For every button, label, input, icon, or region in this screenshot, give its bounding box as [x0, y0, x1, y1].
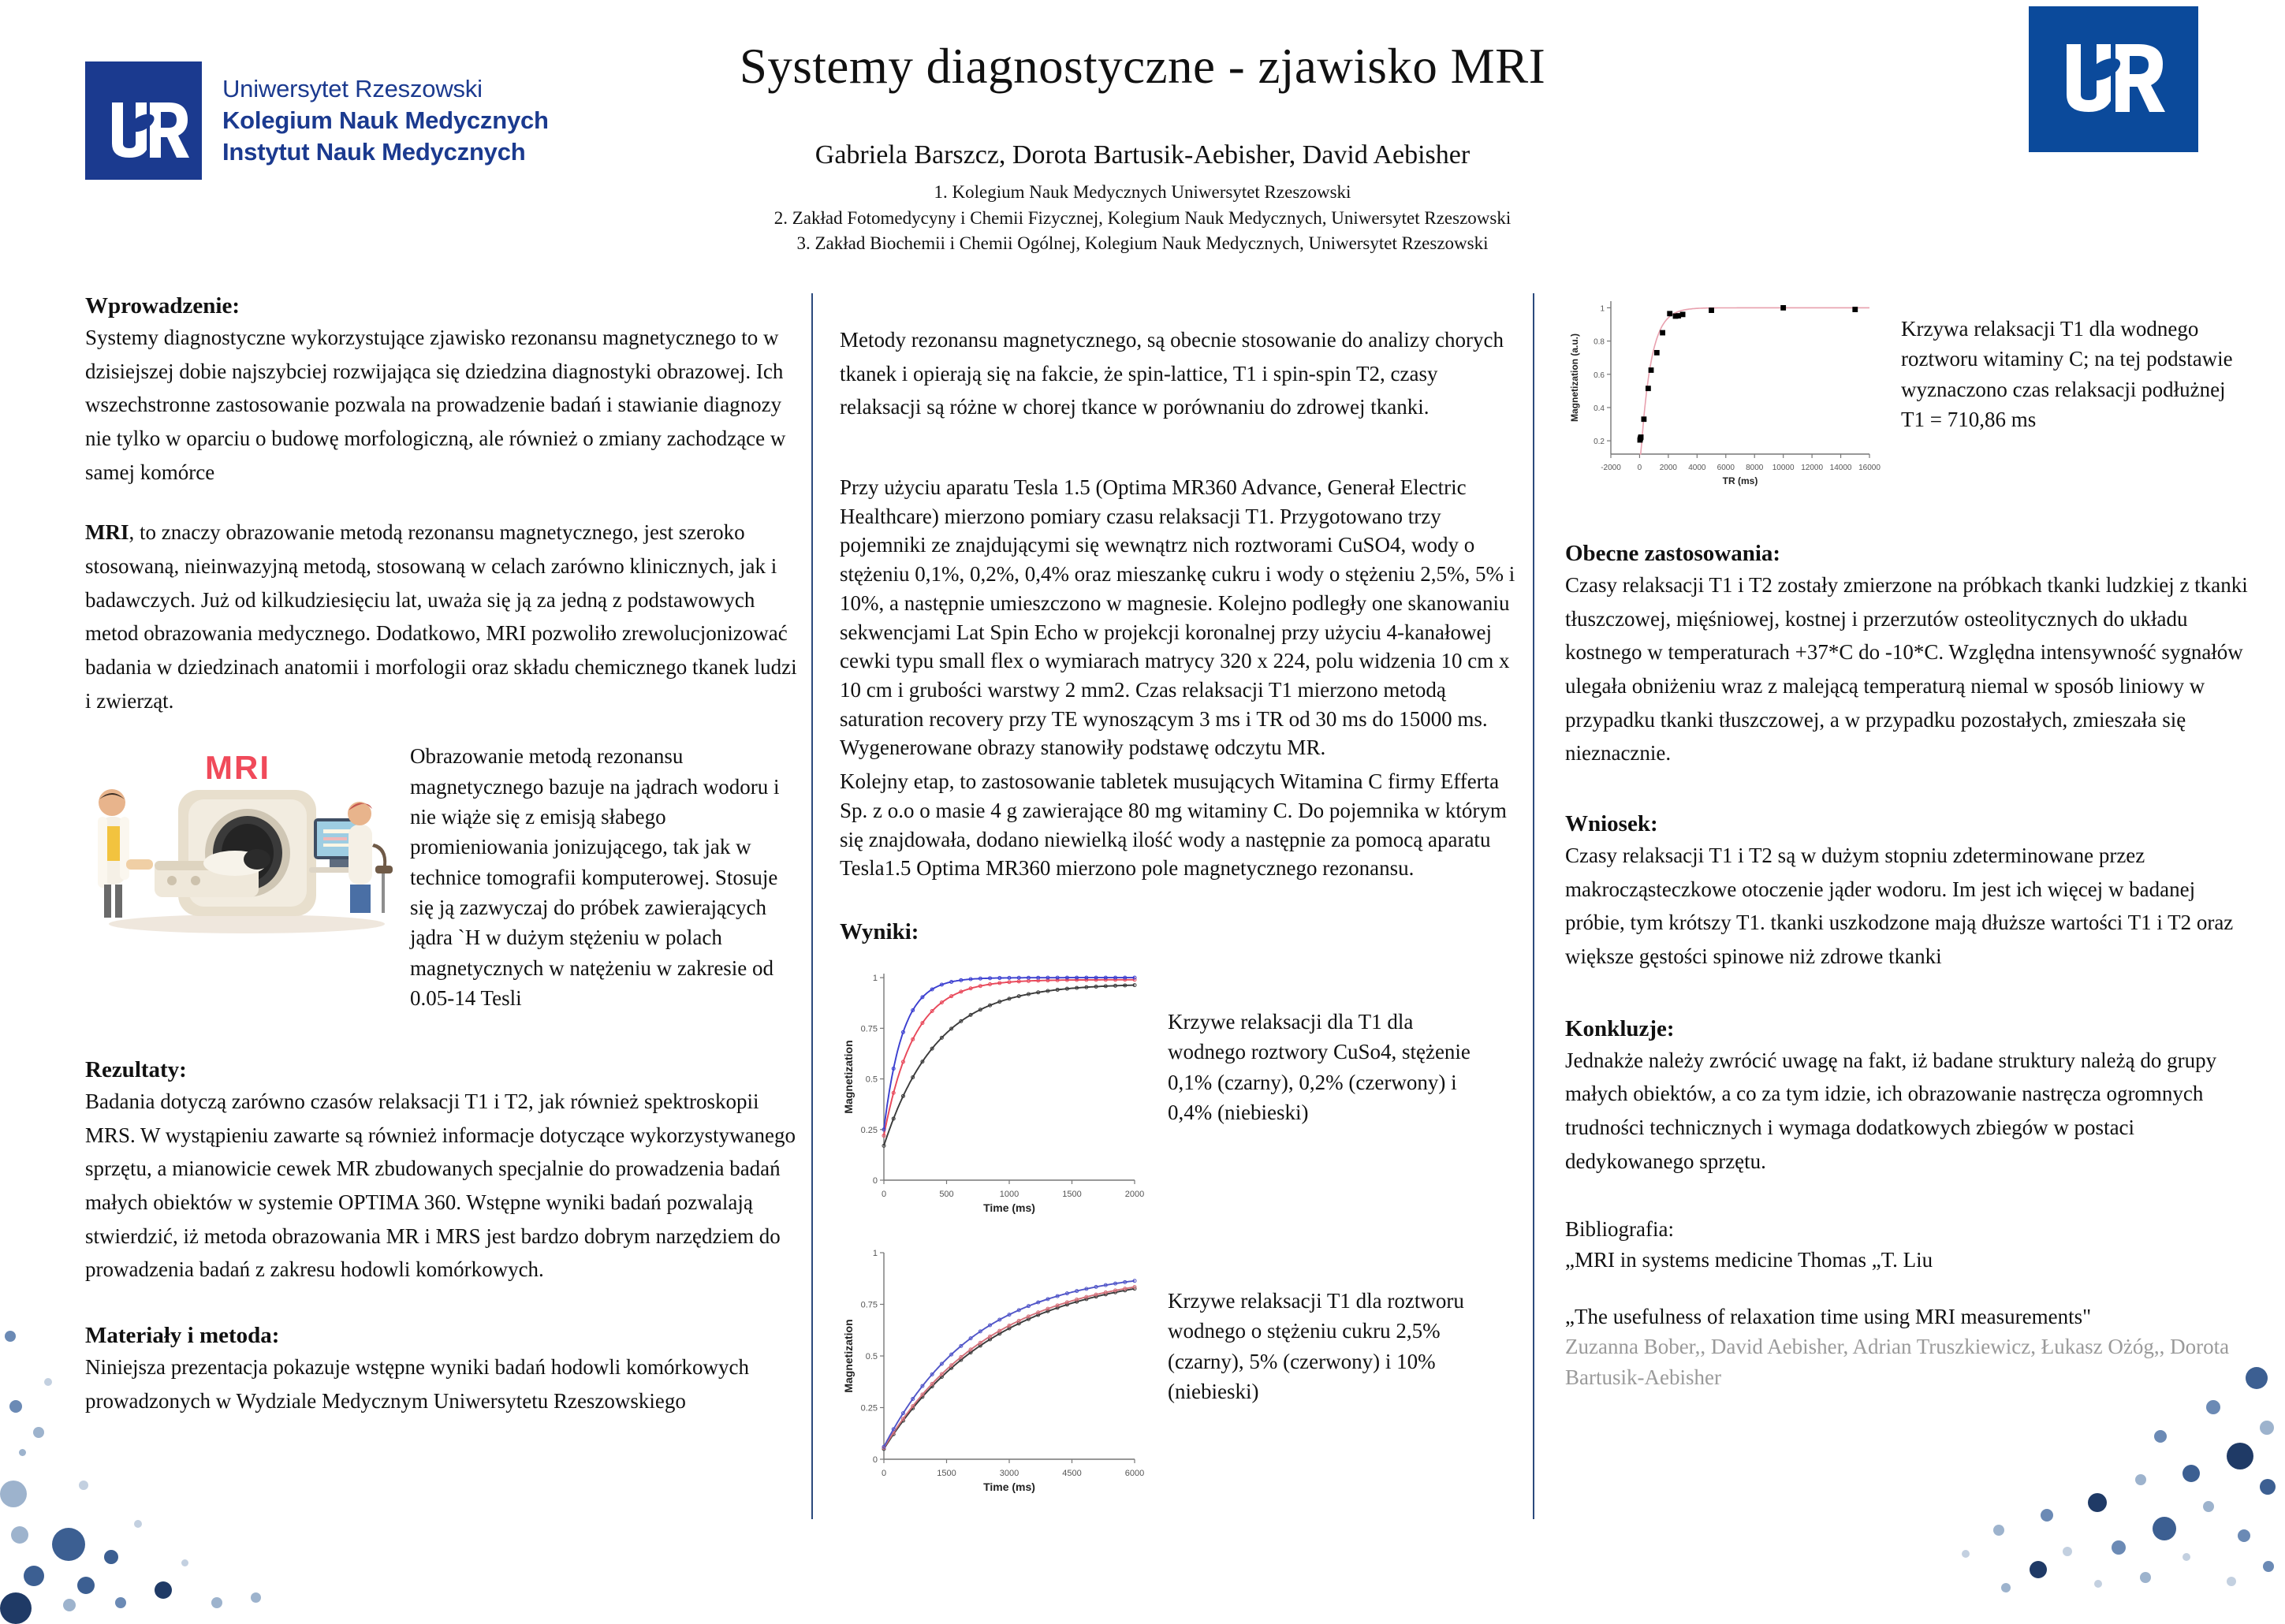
svg-text:0.6: 0.6 [1594, 371, 1605, 380]
decorative-circle [2135, 1474, 2146, 1485]
affiliation-1: 1. Kolegium Nauk Medycznych Uniwersytet … [0, 180, 2285, 206]
mid-paragraph-1: Metody rezonansu magnetycznego, są obecn… [840, 323, 1518, 424]
svg-text:6000: 6000 [1125, 1469, 1144, 1478]
poster-header: Uniwersytet Rzeszowski Kolegium Nauk Med… [0, 0, 2285, 268]
intro-paragraph: Systemy diagnostyczne wykorzystujące zja… [85, 321, 799, 489]
decorative-circle [2041, 1509, 2053, 1522]
decorative-circle [134, 1520, 142, 1528]
svg-text:16000: 16000 [1858, 464, 1881, 472]
decorative-circle [24, 1566, 44, 1586]
section-heading-wniosek: Wniosek: [1565, 811, 2259, 837]
bibliography-entry-2-title: „The usefulness of relaxation time using… [1565, 1302, 2259, 1332]
decorative-circle [2182, 1465, 2200, 1482]
svg-text:Magnetization (a.u.): Magnetization (a.u.) [1569, 333, 1580, 422]
svg-text:0.25: 0.25 [861, 1126, 878, 1135]
svg-text:-2000: -2000 [1601, 464, 1621, 472]
decorative-circle [2260, 1479, 2276, 1495]
author-list: Gabriela Barszcz, Dorota Bartusik-Aebish… [0, 140, 2285, 170]
svg-text:0: 0 [873, 1176, 878, 1186]
section-wniosek: Wniosek: Czasy relaksacji T1 i T2 są w d… [1565, 811, 2259, 974]
svg-text:0.2: 0.2 [1594, 438, 1605, 446]
svg-text:0.5: 0.5 [866, 1352, 878, 1361]
methods-paragraph: Niniejsza prezentacja pokazuje wstępne w… [85, 1350, 799, 1417]
decorative-circle [2203, 1501, 2214, 1512]
chart-cuso4-relaxation: 00.250.50.7510500100015002000Time (ms)Ma… [840, 963, 1147, 1215]
svg-text:0.5: 0.5 [866, 1075, 878, 1085]
mri-illustration-row: MRI [85, 741, 799, 1013]
affiliation-3: 3. Zakład Biochemii i Chemii Ogólnej, Ko… [0, 231, 2285, 257]
decorative-circle [2227, 1577, 2236, 1586]
svg-text:1: 1 [873, 1249, 878, 1258]
svg-text:Time (ms): Time (ms) [983, 1481, 1035, 1493]
svg-text:0.25: 0.25 [861, 1404, 878, 1414]
decorative-circle [181, 1559, 188, 1566]
svg-text:0.8: 0.8 [1594, 338, 1605, 347]
svg-text:4000: 4000 [1688, 464, 1706, 472]
svg-text:8000: 8000 [1746, 464, 1764, 472]
decorative-circle [2238, 1529, 2250, 1542]
svg-text:4500: 4500 [1062, 1469, 1081, 1478]
section-materialy-metoda: Materiały i metoda: Niniejsza prezentacj… [85, 1323, 799, 1417]
decorative-circle [2001, 1583, 2011, 1592]
affiliation-2: 2. Zakład Fotomedycyny i Chemii Fizyczne… [0, 206, 2285, 232]
decorative-circle [251, 1592, 261, 1603]
figure-3-caption: Krzywa relaksacji T1 dla wodnego roztwor… [1901, 290, 2240, 434]
decorative-circle [63, 1599, 76, 1611]
mid-paragraph-2: Przy użyciu aparatu Tesla 1.5 (Optima MR… [840, 473, 1518, 762]
svg-text:2000: 2000 [1660, 464, 1678, 472]
svg-text:0: 0 [1638, 464, 1642, 472]
affiliations: 1. Kolegium Nauk Medycznych Uniwersytet … [0, 180, 2285, 257]
section-heading-wprowadzenie: Wprowadzenie: [85, 293, 799, 319]
figure-2-row: 00.250.50.75101500300045006000Time (ms)M… [840, 1242, 1518, 1494]
section-heading-rezultaty: Rezultaty: [85, 1057, 799, 1083]
svg-text:2000: 2000 [1125, 1190, 1144, 1199]
applications-paragraph: Czasy relaksacji T1 i T2 zostały zmierzo… [1565, 568, 2259, 770]
section-mri-definition: MRI, to znaczy obrazowanie metodą rezona… [85, 516, 799, 717]
svg-text:6000: 6000 [1717, 464, 1735, 472]
decorative-circle [5, 1331, 16, 1342]
decorative-circle [211, 1597, 222, 1608]
section-wprowadzenie: Wprowadzenie: Systemy diagnostyczne wyko… [85, 293, 799, 489]
decorative-circle [2182, 1553, 2190, 1561]
mri-lead-bold: MRI [85, 520, 129, 544]
svg-text:Magnetization: Magnetization [842, 1040, 855, 1113]
mri-illustration-caption: Obrazowanie metodą rezonansu magnetyczne… [410, 741, 799, 1013]
svg-text:Magnetization: Magnetization [842, 1319, 855, 1392]
section-heading-zastosowania: Obecne zastosowania: [1565, 541, 2259, 567]
decorative-circle [2140, 1572, 2151, 1583]
middle-column: Metody rezonansu magnetycznego, są obecn… [840, 293, 1518, 1494]
conclusion-paragraph: Czasy relaksacji T1 i T2 są w dużym stop… [1565, 839, 2259, 974]
column-divider-left [811, 293, 813, 1519]
figure-3-row: 0.20.40.60.81-20000200040006000800010000… [1565, 290, 2259, 487]
figure-1-caption: Krzywe relaksacji dla T1 dla wodnego roz… [1168, 963, 1483, 1127]
decorative-circle [44, 1378, 52, 1386]
svg-text:0.75: 0.75 [861, 1024, 878, 1034]
decorative-circle [2227, 1443, 2253, 1469]
decorative-circle [1962, 1550, 1970, 1558]
decorative-circle [155, 1581, 172, 1599]
svg-text:14000: 14000 [1830, 464, 1852, 472]
svg-text:0.75: 0.75 [861, 1301, 878, 1310]
mri-paragraph: MRI, to znaczy obrazowanie metodą rezona… [85, 516, 799, 717]
section-obecne-zastosowania: Obecne zastosowania: Czasy relaksacji T1… [1565, 541, 2259, 770]
figure-2-caption: Krzywe relaksacji T1 dla roztworu wodneg… [1168, 1242, 1483, 1406]
decorative-circle [2263, 1561, 2274, 1572]
svg-text:10000: 10000 [1772, 464, 1795, 472]
decorative-circle [19, 1449, 26, 1456]
mri-scanner-illustration: MRI [85, 741, 393, 938]
svg-text:1500: 1500 [1062, 1190, 1081, 1199]
decorative-circle [2112, 1540, 2126, 1555]
svg-text:500: 500 [939, 1190, 953, 1199]
decorative-circle [0, 1481, 27, 1507]
decorative-circle [2153, 1517, 2176, 1540]
decorative-circle [11, 1526, 28, 1544]
decorative-circle [33, 1427, 44, 1438]
page-title: Systemy diagnostyczne - zjawisko MRI [0, 38, 2285, 95]
svg-text:0: 0 [873, 1455, 878, 1465]
right-column: 0.20.40.60.81-20000200040006000800010000… [1565, 290, 2259, 1416]
decorative-circle [2088, 1493, 2107, 1512]
decorative-circle [79, 1481, 88, 1490]
decorative-circle [0, 1592, 32, 1624]
decorative-circle [104, 1550, 118, 1564]
decorative-circle [2154, 1430, 2167, 1443]
svg-text:TR (ms): TR (ms) [1723, 475, 1758, 486]
svg-text:1: 1 [1600, 304, 1605, 313]
conclusions-paragraph: Jednakże należy zwrócić uwagę na fakt, i… [1565, 1044, 2259, 1179]
svg-text:0: 0 [882, 1190, 886, 1199]
svg-text:MRI: MRI [205, 749, 270, 786]
section-heading-wyniki: Wyniki: [840, 919, 1518, 945]
decorative-circle [115, 1597, 126, 1608]
svg-text:12000: 12000 [1801, 464, 1823, 472]
section-heading-materialy: Materiały i metoda: [85, 1323, 799, 1349]
mri-paragraph-text: , to znaczy obrazowanie metodą rezonansu… [85, 520, 797, 712]
bibliography-entry-1: „MRI in systems medicine Thomas „T. Liu [1565, 1245, 2259, 1275]
decorative-circle [1993, 1525, 2004, 1536]
decorative-circle [9, 1400, 22, 1413]
svg-text:3000: 3000 [1000, 1469, 1019, 1478]
bibliography-heading: Bibliografia: [1565, 1214, 2259, 1244]
column-divider-right [1533, 293, 1534, 1519]
mid-paragraph-3: Kolejny etap, to zastosowanie tabletek m… [840, 767, 1518, 883]
decorative-circle [2030, 1561, 2047, 1578]
chart-sugar-relaxation: 00.250.50.75101500300045006000Time (ms)M… [840, 1242, 1147, 1494]
figure-1-row: 00.250.50.7510500100015002000Time (ms)Ma… [840, 963, 1518, 1215]
svg-text:1000: 1000 [1000, 1190, 1019, 1199]
chart-vitaminc-relaxation: 0.20.40.60.81-20000200040006000800010000… [1565, 290, 1881, 487]
decorative-circle [2260, 1421, 2274, 1435]
svg-text:0.4: 0.4 [1594, 404, 1605, 413]
section-heading-konkluzje: Konkluzje: [1565, 1016, 2259, 1042]
svg-text:Time (ms): Time (ms) [983, 1201, 1035, 1214]
left-column: Wprowadzenie: Systemy diagnostyczne wyko… [85, 293, 799, 1441]
results-paragraph: Badania dotyczą zarówno czasów relaksacj… [85, 1085, 799, 1287]
decorative-circle [2063, 1547, 2072, 1556]
decorative-circle [52, 1528, 85, 1561]
bibliography-entry-2-authors: Zuzanna Bober,, David Aebisher, Adrian T… [1565, 1332, 2259, 1392]
decorative-circle [77, 1577, 95, 1594]
section-konkluzje: Konkluzje: Jednakże należy zwrócić uwagę… [1565, 1016, 2259, 1179]
svg-text:1500: 1500 [937, 1469, 956, 1478]
section-rezultaty: Rezultaty: Badania dotyczą zarówno czasó… [85, 1057, 799, 1287]
section-bibliografia: Bibliografia: „MRI in systems medicine T… [1565, 1214, 2259, 1392]
svg-text:0: 0 [882, 1469, 886, 1478]
decorative-circle [2094, 1580, 2102, 1588]
svg-text:1: 1 [873, 974, 878, 983]
logo-line-college: Kolegium Nauk Medycznych [222, 105, 549, 136]
